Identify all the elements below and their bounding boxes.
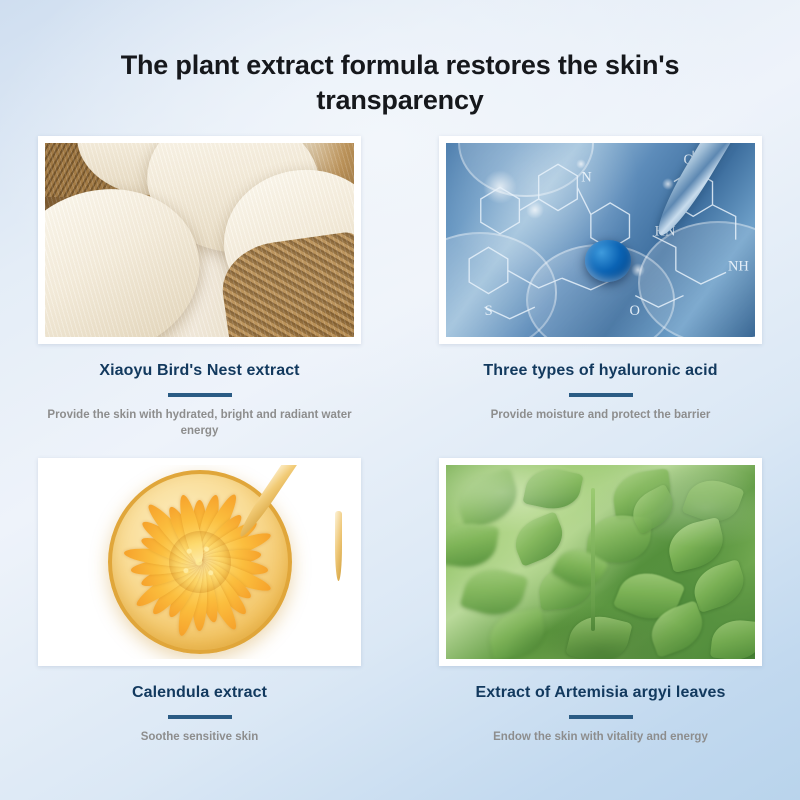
promo-page: The plant extract formula restores the s… (0, 0, 800, 800)
calendula-photo (45, 465, 354, 659)
card-description: Endow the skin with vitality and energy (439, 729, 762, 745)
ingredient-card-calendula[interactable]: Calendula extract Soothe sensitive skin (38, 458, 361, 745)
chem-label-n: N (581, 170, 592, 186)
title-divider (569, 393, 633, 397)
title-divider (168, 715, 232, 719)
photo-frame (38, 136, 361, 344)
card-caption: Calendula extract Soothe sensitive skin (38, 666, 361, 745)
card-description: Soothe sensitive skin (38, 729, 361, 745)
card-description: Provide moisture and protect the barrier (439, 407, 762, 423)
blue-droplet (585, 240, 631, 282)
photo-frame: O HN NH O S N (439, 136, 762, 344)
pipette-icon-secondary (335, 511, 342, 581)
ingredient-card-artemisia[interactable]: Extract of Artemisia argyi leaves Endow … (439, 458, 762, 745)
flower-center (169, 531, 231, 593)
ingredient-card-hyaluronic-acid[interactable]: O HN NH O S N Three types of hyaluronic … (439, 136, 762, 440)
ingredient-card-grid: Xiaoyu Bird's Nest extract Provide the s… (0, 136, 800, 745)
card-caption: Xiaoyu Bird's Nest extract Provide the s… (38, 344, 361, 440)
bird-nest-photo (45, 143, 354, 337)
card-title: Three types of hyaluronic acid (439, 362, 762, 380)
page-title: The plant extract formula restores the s… (60, 48, 740, 118)
card-title: Extract of Artemisia argyi leaves (439, 684, 762, 702)
fiber-texture (45, 143, 354, 337)
ingredient-card-bird-nest[interactable]: Xiaoyu Bird's Nest extract Provide the s… (38, 136, 361, 440)
card-caption: Extract of Artemisia argyi leaves Endow … (439, 666, 762, 745)
chem-label-o2: O (629, 303, 639, 319)
chem-label-s: S (485, 303, 493, 319)
title-divider (569, 715, 633, 719)
hyaluronic-acid-photo: O HN NH O S N (446, 143, 755, 337)
card-title: Xiaoyu Bird's Nest extract (38, 362, 361, 380)
artemisia-photo (446, 465, 755, 659)
chem-label-nh: NH (728, 258, 749, 274)
photo-frame (439, 458, 762, 666)
photo-frame (38, 458, 361, 666)
title-divider (168, 393, 232, 397)
card-title: Calendula extract (38, 684, 361, 702)
depth-haze (446, 465, 755, 659)
card-description: Provide the skin with hydrated, bright a… (38, 407, 361, 440)
card-caption: Three types of hyaluronic acid Provide m… (439, 344, 762, 423)
